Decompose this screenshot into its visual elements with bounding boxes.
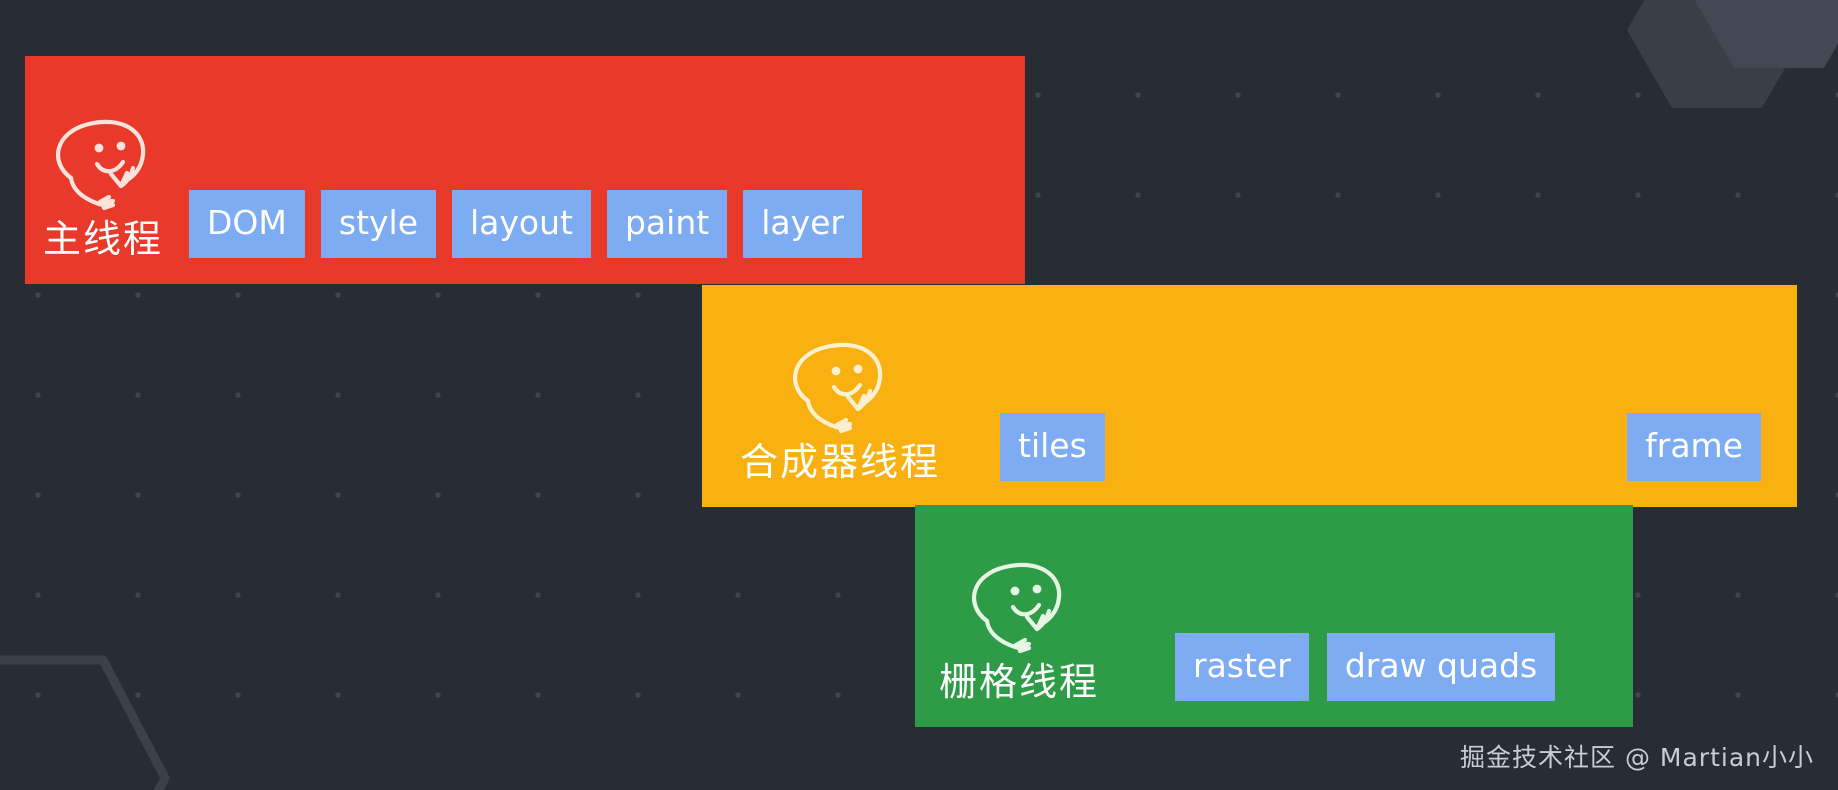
hexagon-bottom-left-icon (0, 648, 188, 790)
hexagon-top-right-icon (1612, 0, 1838, 142)
diagram-canvas: 主线程 DOM style layout paint layer (0, 0, 1838, 790)
thread-row-main-thread: 主线程 DOM style layout paint layer (25, 56, 1025, 284)
smiley-face-icon (963, 555, 1075, 655)
thread-name-label: 主线程 (43, 220, 163, 258)
chip-dom[interactable]: DOM (189, 190, 305, 258)
thread-name-label: 合成器线程 (740, 443, 940, 481)
thread-label-raster-thread: 栅格线程 (939, 555, 1099, 727)
chip-group-compositor-thread: tiles (1000, 413, 1105, 507)
chip-paint[interactable]: paint (607, 190, 727, 258)
thread-label-main-thread: 主线程 (43, 112, 163, 284)
chip-draw-quads[interactable]: draw quads (1327, 633, 1555, 701)
chip-layout[interactable]: layout (452, 190, 591, 258)
thread-name-label: 栅格线程 (939, 663, 1099, 701)
chip-style[interactable]: style (321, 190, 436, 258)
smiley-face-icon (47, 112, 159, 212)
chip-frame[interactable]: frame (1627, 413, 1761, 481)
chip-layer[interactable]: layer (743, 190, 862, 258)
chip-group-main-thread: DOM style layout paint layer (189, 190, 862, 284)
thread-label-compositor-thread: 合成器线程 (740, 335, 940, 507)
chip-raster[interactable]: raster (1175, 633, 1309, 701)
thread-row-raster-thread: 栅格线程 raster draw quads (915, 505, 1633, 727)
watermark-text: 掘金技术社区 @ Martian小小 (1460, 738, 1814, 774)
smiley-face-icon (784, 335, 896, 435)
thread-row-compositor-thread: 合成器线程 tiles frame (702, 285, 1797, 507)
chip-group-raster-thread: raster draw quads (1175, 633, 1555, 727)
chip-tiles[interactable]: tiles (1000, 413, 1105, 481)
